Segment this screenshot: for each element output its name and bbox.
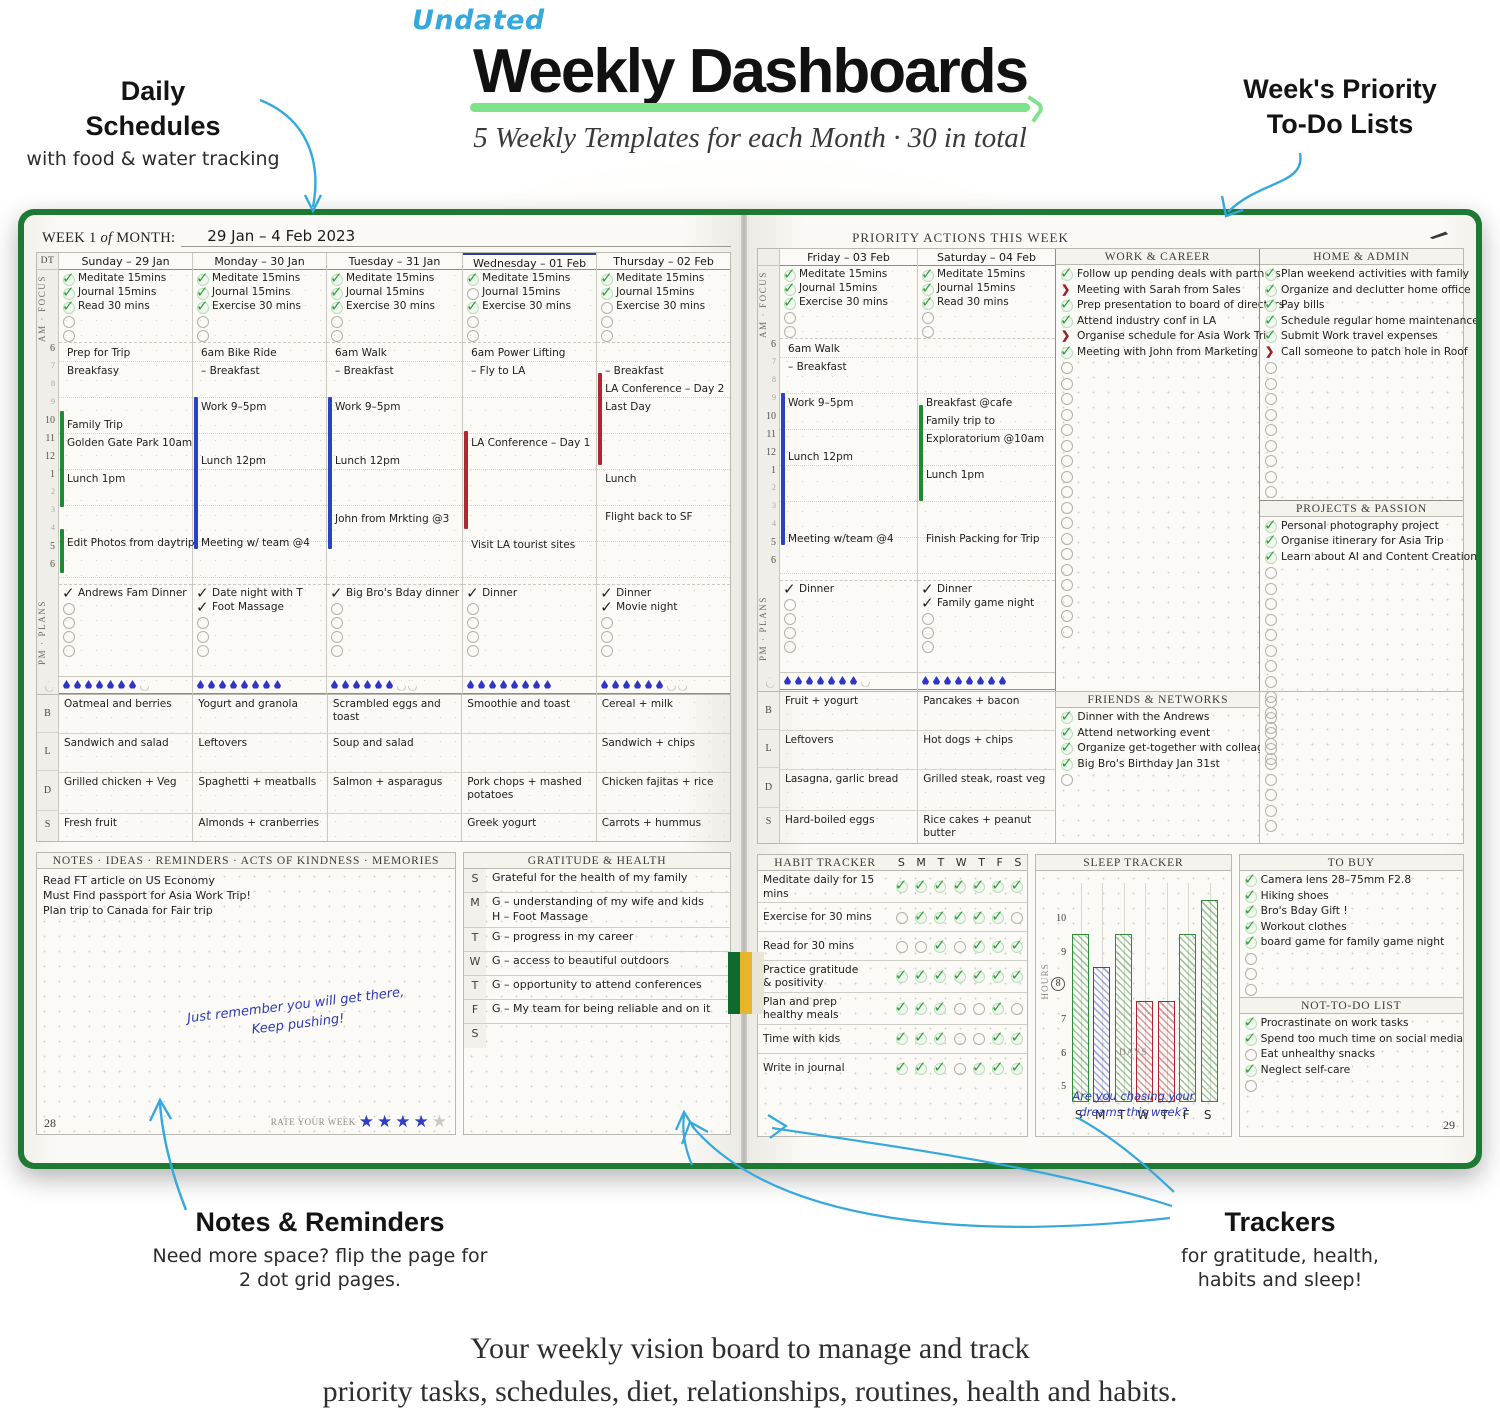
meal-cell[interactable]: Fresh fruit <box>59 814 193 841</box>
home-admin-item[interactable]: Pay bills <box>1260 298 1463 314</box>
water-drop-icon[interactable] <box>783 675 792 687</box>
water-drop-icon[interactable] <box>229 679 238 691</box>
home-admin-item[interactable]: Plan weekend activities with family <box>1260 267 1463 283</box>
checkbox-checked[interactable] <box>1060 268 1072 280</box>
meal-cell[interactable]: Oatmeal and berries <box>59 695 193 733</box>
checkbox-checked[interactable] <box>1060 742 1072 754</box>
am-focus-item[interactable]: Exercise 30 mins <box>330 300 459 314</box>
to-buy-item[interactable]: board game for family game night <box>1240 935 1463 951</box>
sleep-bar[interactable] <box>1072 934 1089 1102</box>
water-drop-icon[interactable] <box>273 679 282 691</box>
checkbox-empty[interactable] <box>921 626 933 638</box>
checkbox-empty[interactable] <box>600 329 612 341</box>
habit-check[interactable] <box>1010 880 1024 894</box>
note-line[interactable]: Plan trip to Canada for Fair trip <box>37 903 455 918</box>
friends-networks-item[interactable] <box>1056 772 1259 788</box>
habit-check[interactable] <box>1010 911 1024 925</box>
water-drop-icon[interactable] <box>600 679 609 691</box>
checkbox-empty[interactable] <box>466 644 478 656</box>
water-drop-icon[interactable] <box>352 679 361 691</box>
schedule-event[interactable]: Work 9–5pm <box>788 397 853 409</box>
am-focus-item[interactable]: Exercise 30 mins <box>196 300 323 314</box>
am-focus-item[interactable]: Meditate 15mins <box>466 272 593 286</box>
checkbox-empty[interactable] <box>1060 625 1072 637</box>
meal-cell[interactable]: Cereal + milk <box>597 695 730 733</box>
checkbox-empty[interactable] <box>1264 757 1276 769</box>
habit-check[interactable] <box>914 1032 928 1046</box>
schedule-event[interactable]: Breakfasy <box>67 365 119 377</box>
water-drop-icon[interactable] <box>932 675 941 687</box>
water-drop-icon[interactable] <box>965 675 974 687</box>
water-drop-icon[interactable] <box>330 679 339 691</box>
water-drop-icon[interactable] <box>794 675 803 687</box>
schedule-event[interactable]: – Breakfast <box>335 365 394 377</box>
water-drop-icon[interactable] <box>655 679 664 691</box>
checkbox-empty[interactable] <box>1060 594 1072 606</box>
checkbox-empty[interactable] <box>1060 392 1072 404</box>
am-focus-item[interactable]: Meditate 15mins <box>921 268 1052 282</box>
water-drop-icon[interactable] <box>805 675 814 687</box>
checkbox-checked[interactable] <box>1060 727 1072 739</box>
to-buy-item[interactable]: Hiking shoes <box>1240 889 1463 905</box>
schedule-event[interactable]: Family Trip <box>67 419 123 431</box>
projects-passion-item[interactable]: Personal photography project <box>1260 519 1463 535</box>
home-admin-item[interactable] <box>1260 469 1463 485</box>
habit-check[interactable] <box>914 1002 928 1016</box>
checkbox-empty[interactable] <box>1060 439 1072 451</box>
checkbox-checked[interactable] <box>196 301 208 313</box>
checkbox-empty[interactable] <box>62 602 74 614</box>
checkbox-empty[interactable] <box>1060 547 1072 559</box>
friends-networks-item[interactable]: Dinner with the Andrews <box>1056 710 1259 726</box>
projects-passion-item[interactable] <box>1260 694 1463 710</box>
not-to-do-item[interactable]: Spend too much time on social media <box>1240 1032 1463 1048</box>
am-focus-item[interactable]: Journal 15mins <box>921 282 1052 296</box>
water-drop-icon[interactable] <box>240 679 249 691</box>
habit-check[interactable] <box>914 1062 928 1076</box>
checkbox-empty[interactable] <box>783 311 795 323</box>
checkbox-empty[interactable] <box>196 315 208 327</box>
pm-plan-item[interactable] <box>196 629 323 643</box>
am-focus-item[interactable]: Exercise 30 mins <box>466 300 593 314</box>
water-drop-icon[interactable] <box>838 675 847 687</box>
pm-plan-item[interactable] <box>62 615 189 629</box>
water-drop-icon[interactable] <box>499 679 508 691</box>
work-career-item[interactable] <box>1056 376 1259 392</box>
am-focus-item[interactable]: Meditate 15mins <box>600 272 727 286</box>
am-focus-item[interactable]: Journal 15mins <box>466 286 593 300</box>
work-career-item[interactable] <box>1056 500 1259 516</box>
water-drop-icon[interactable] <box>921 675 930 687</box>
checkbox-empty[interactable] <box>466 329 478 341</box>
water-drop-icon[interactable] <box>677 679 686 691</box>
checkbox-checked[interactable] <box>196 602 208 614</box>
checkbox-checked[interactable] <box>466 588 478 600</box>
am-focus-item[interactable] <box>783 310 914 324</box>
checkbox-empty[interactable] <box>1244 952 1256 964</box>
am-focus-item[interactable] <box>600 328 727 342</box>
day-header[interactable]: Tuesday – 31 Jan <box>327 253 462 270</box>
pm-plan-item[interactable] <box>330 601 459 615</box>
home-admin-item[interactable]: Schedule regular home maintenance <box>1260 314 1463 330</box>
am-focus-item[interactable]: Journal 15mins <box>196 286 323 300</box>
checkbox-checked[interactable] <box>1244 936 1256 948</box>
checkbox-empty[interactable] <box>1244 983 1256 995</box>
habit-check[interactable] <box>895 940 909 954</box>
checkbox-empty[interactable] <box>1264 819 1276 831</box>
schedule-event[interactable]: – Breakfast <box>788 361 847 373</box>
to-buy-item[interactable]: Workout clothes <box>1240 920 1463 936</box>
checkbox-empty[interactable] <box>921 325 933 337</box>
water-drop-icon[interactable] <box>849 675 858 687</box>
checkbox-empty[interactable] <box>330 616 342 628</box>
pm-plan-item[interactable] <box>921 625 1052 639</box>
checkbox-empty[interactable] <box>1060 408 1072 420</box>
not-to-do-item[interactable] <box>1240 1078 1463 1094</box>
checkbox-checked[interactable] <box>1060 330 1072 342</box>
checkbox-empty[interactable] <box>1264 695 1276 707</box>
habit-check[interactable] <box>953 880 967 894</box>
star-icon[interactable]: ★ <box>432 1113 447 1130</box>
home-admin-item[interactable] <box>1260 453 1463 469</box>
projects-passion-item[interactable] <box>1260 658 1463 674</box>
water-drop-icon[interactable] <box>644 679 653 691</box>
pm-plan-item[interactable]: Family game night <box>921 597 1052 611</box>
pm-plan-item[interactable] <box>466 643 593 657</box>
pm-plan-item[interactable] <box>600 643 727 657</box>
water-drop-icon[interactable] <box>407 679 416 691</box>
checkbox-empty[interactable] <box>1264 804 1276 816</box>
checkbox-empty[interactable] <box>1060 501 1072 513</box>
habit-check[interactable] <box>933 940 947 954</box>
checkbox-checked[interactable] <box>783 584 795 596</box>
gratitude-text[interactable]: G – understanding of my wife and kids H … <box>486 893 730 927</box>
checkbox-empty[interactable] <box>1264 726 1276 738</box>
water-drop-icon[interactable] <box>262 679 271 691</box>
checkbox-checked[interactable] <box>600 287 612 299</box>
projects-passion-item[interactable] <box>1260 643 1463 659</box>
to-buy-item[interactable] <box>1240 966 1463 982</box>
work-career-item[interactable]: Meeting with Sarah from Sales <box>1056 283 1259 299</box>
schedule-event[interactable]: – Breakfast <box>201 365 260 377</box>
projects-passion-item[interactable] <box>1260 612 1463 628</box>
water-drop-icon[interactable] <box>943 675 952 687</box>
gratitude-row[interactable]: WG – access to beautiful outdoors <box>464 952 730 976</box>
checkbox-empty[interactable] <box>1264 392 1276 404</box>
habit-check[interactable] <box>972 880 986 894</box>
water-drop-icon[interactable] <box>396 679 405 691</box>
habit-check[interactable] <box>991 1002 1005 1016</box>
schedule-event[interactable]: Lunch 1pm <box>926 469 984 481</box>
am-focus-item[interactable] <box>466 328 593 342</box>
pm-plan-item[interactable] <box>330 643 459 657</box>
home-admin-item[interactable] <box>1260 422 1463 438</box>
projects-passion-item[interactable] <box>1260 565 1463 581</box>
checkbox-empty[interactable] <box>1264 377 1276 389</box>
checkbox-empty[interactable] <box>1264 659 1276 671</box>
checkbox-empty[interactable] <box>330 315 342 327</box>
to-buy-item[interactable] <box>1240 982 1463 998</box>
pm-plan-item[interactable] <box>196 643 323 657</box>
gratitude-row[interactable]: SGrateful for the health of my family <box>464 869 730 893</box>
checkbox-empty[interactable] <box>1244 967 1256 979</box>
pm-plan-item[interactable] <box>330 615 459 629</box>
schedule-event[interactable]: Work 9–5pm <box>335 401 400 413</box>
am-focus-item[interactable]: Exercise 30 mins <box>600 300 727 314</box>
home-admin-item[interactable]: Call someone to patch hole in Roof <box>1260 345 1463 361</box>
gratitude-row[interactable]: TG – progress in my career <box>464 928 730 952</box>
checkbox-empty[interactable] <box>330 329 342 341</box>
checkbox-empty[interactable] <box>196 329 208 341</box>
checkbox-empty[interactable] <box>1264 423 1276 435</box>
meal-cell[interactable]: Pancakes + bacon <box>918 692 1055 730</box>
checkbox-empty[interactable] <box>196 644 208 656</box>
am-focus-item[interactable] <box>330 314 459 328</box>
checkbox-empty[interactable] <box>1264 485 1276 497</box>
habit-check[interactable] <box>953 911 967 925</box>
am-focus-item[interactable]: Read 30 mins <box>62 300 189 314</box>
schedule-event[interactable]: Lunch 12pm <box>788 451 853 463</box>
week-date-range[interactable]: 29 Jan – 4 Feb 2023 <box>181 227 731 247</box>
day-header[interactable]: Monday – 30 Jan <box>193 253 326 270</box>
work-career-item[interactable] <box>1056 453 1259 469</box>
work-career-item[interactable] <box>1056 531 1259 547</box>
to-buy-item[interactable]: Camera lens 28–75mm F2.8 <box>1240 873 1463 889</box>
checkbox-empty[interactable] <box>1060 773 1072 785</box>
meal-cell[interactable]: Hard-boiled eggs <box>780 811 918 843</box>
day-header[interactable]: Wednesday – 01 Feb <box>463 253 596 270</box>
meal-cell[interactable] <box>462 734 596 772</box>
schedule-event[interactable]: Breakfast @cafe <box>926 397 1012 409</box>
schedule-event[interactable]: Lunch 1pm <box>67 473 125 485</box>
habit-check[interactable] <box>972 1032 986 1046</box>
habit-check[interactable] <box>933 970 947 984</box>
habit-check[interactable] <box>933 1062 947 1076</box>
water-drop-icon[interactable] <box>477 679 486 691</box>
checkbox-empty[interactable] <box>1060 532 1072 544</box>
pm-plan-item[interactable] <box>783 611 914 625</box>
water-drop-icon[interactable] <box>666 679 675 691</box>
work-career-item[interactable]: Meeting with John from Marketing <box>1056 345 1259 361</box>
star-icon[interactable]: ★ <box>395 1113 410 1130</box>
am-focus-item[interactable]: Meditate 15mins <box>196 272 323 286</box>
am-focus-item[interactable]: Read 30 mins <box>921 296 1052 310</box>
habit-check[interactable] <box>895 1002 909 1016</box>
schedule-event[interactable]: 6am Power Lifting <box>471 347 565 359</box>
work-career-item[interactable] <box>1056 608 1259 624</box>
habit-check[interactable] <box>972 1062 986 1076</box>
checkbox-empty[interactable] <box>1060 423 1072 435</box>
habit-check[interactable] <box>972 1002 986 1016</box>
am-focus-item[interactable]: Meditate 15mins <box>62 272 189 286</box>
habit-check[interactable] <box>991 970 1005 984</box>
habit-check[interactable] <box>914 911 928 925</box>
checkbox-checked[interactable] <box>1264 535 1276 547</box>
schedule-event[interactable]: Meeting w/team @4 <box>788 533 894 545</box>
water-drop-icon[interactable] <box>488 679 497 691</box>
schedule-event[interactable]: Meeting w/ team @4 <box>201 537 310 549</box>
meal-cell[interactable]: Sandwich + chips <box>597 734 730 772</box>
schedule-event[interactable]: Family trip to <box>926 415 995 427</box>
checkbox-empty[interactable] <box>600 644 612 656</box>
gratitude-row[interactable]: MG – understanding of my wife and kids H… <box>464 893 730 928</box>
checkbox-empty[interactable] <box>600 315 612 327</box>
meal-cell[interactable]: Pork chops + mashed potatoes <box>462 773 596 813</box>
checkbox-empty[interactable] <box>1264 628 1276 640</box>
checkbox-checked[interactable] <box>1244 890 1256 902</box>
pm-plan-item[interactable]: Dinner <box>466 587 593 601</box>
checkbox-checked[interactable] <box>466 301 478 313</box>
schedule-event[interactable]: Last Day <box>605 401 651 413</box>
schedule-event[interactable]: John from Mrkting @3 <box>335 513 449 525</box>
pm-plan-item[interactable] <box>196 615 323 629</box>
habit-check[interactable] <box>895 970 909 984</box>
checkbox-empty[interactable] <box>62 644 74 656</box>
checkbox-empty[interactable] <box>600 301 612 313</box>
checkbox-empty[interactable] <box>1264 644 1276 656</box>
meal-cell[interactable]: Lasagna, garlic bread <box>780 770 918 810</box>
star-icon[interactable]: ★ <box>377 1113 392 1130</box>
star-icon[interactable]: ★ <box>414 1113 429 1130</box>
am-focus-item[interactable] <box>62 314 189 328</box>
checkbox-empty[interactable] <box>1264 470 1276 482</box>
checkbox-checked[interactable] <box>1244 1064 1256 1076</box>
habit-check[interactable] <box>1010 970 1024 984</box>
habit-check[interactable] <box>933 1032 947 1046</box>
day-header[interactable]: Thursday – 02 Feb <box>597 253 730 270</box>
checkbox-checked[interactable] <box>62 301 74 313</box>
checkbox-checked[interactable] <box>1060 758 1072 770</box>
pm-plan-item[interactable]: Dinner <box>783 583 914 597</box>
not-to-do-item[interactable]: Eat unhealthy snacks <box>1240 1047 1463 1063</box>
work-career-item[interactable]: Organise schedule for Asia Work Trip <box>1056 329 1259 345</box>
checkbox-checked[interactable] <box>1060 299 1072 311</box>
work-career-item[interactable]: Prep presentation to board of directors <box>1056 298 1259 314</box>
checkbox-checked[interactable] <box>1264 520 1276 532</box>
checkbox-empty[interactable] <box>1264 566 1276 578</box>
checkbox-empty[interactable] <box>1060 377 1072 389</box>
pm-plan-item[interactable]: Dinner <box>600 587 727 601</box>
sleep-bar[interactable] <box>1201 900 1218 1102</box>
gratitude-text[interactable]: G – access to beautiful outdoors <box>486 952 730 975</box>
pm-plan-item[interactable] <box>62 601 189 615</box>
checkbox-checked[interactable] <box>1264 551 1276 563</box>
checkbox-empty[interactable] <box>1060 485 1072 497</box>
meal-cell[interactable] <box>328 814 462 841</box>
meal-cell[interactable]: Yogurt and granola <box>193 695 327 733</box>
checkbox-empty[interactable] <box>1264 454 1276 466</box>
habit-check[interactable] <box>895 911 909 925</box>
checkbox-empty[interactable] <box>783 325 795 337</box>
habit-check[interactable] <box>972 940 986 954</box>
pm-plan-item[interactable] <box>921 639 1052 653</box>
checkbox-checked[interactable] <box>921 297 933 309</box>
meal-cell[interactable]: Carrots + hummus <box>597 814 730 841</box>
checkbox-empty[interactable] <box>600 630 612 642</box>
friends-networks-item[interactable]: Organize get-together with colleagues <box>1056 741 1259 757</box>
meal-cell[interactable]: Leftovers <box>193 734 327 772</box>
work-career-item[interactable] <box>1056 577 1259 593</box>
water-drop-icon[interactable] <box>117 679 126 691</box>
work-career-item[interactable]: Attend industry conf in LA <box>1056 314 1259 330</box>
water-drop-icon[interactable] <box>84 679 93 691</box>
checkbox-empty[interactable] <box>196 630 208 642</box>
habit-check[interactable] <box>914 940 928 954</box>
checkbox-empty[interactable] <box>783 626 795 638</box>
checkbox-empty[interactable] <box>921 311 933 323</box>
pm-plan-item[interactable] <box>466 615 593 629</box>
schedule-event[interactable]: – Fly to LA <box>471 365 525 377</box>
projects-passion-item[interactable] <box>1260 710 1463 726</box>
habit-check[interactable] <box>972 911 986 925</box>
pm-plan-item[interactable] <box>62 629 189 643</box>
habit-check[interactable] <box>1010 940 1024 954</box>
habit-check[interactable] <box>1010 1002 1024 1016</box>
pm-plan-item[interactable]: Foot Massage <box>196 601 323 615</box>
checkbox-empty[interactable] <box>1244 1079 1256 1091</box>
checkbox-empty[interactable] <box>1060 454 1072 466</box>
am-focus-item[interactable]: Exercise 30 mins <box>783 296 914 310</box>
schedule-event[interactable]: 6am Walk <box>335 347 387 359</box>
water-drop-icon[interactable] <box>106 679 115 691</box>
habit-check[interactable] <box>991 1062 1005 1076</box>
pm-plan-item[interactable]: Movie night <box>600 601 727 615</box>
home-admin-item[interactable] <box>1260 391 1463 407</box>
work-career-item[interactable] <box>1056 407 1259 423</box>
projects-passion-item[interactable] <box>1260 627 1463 643</box>
friends-networks-item[interactable]: Attend networking event <box>1056 726 1259 742</box>
checkbox-empty[interactable] <box>1264 711 1276 723</box>
meal-cell[interactable]: Almonds + cranberries <box>193 814 327 841</box>
checkbox-empty[interactable] <box>1264 582 1276 594</box>
gratitude-text[interactable]: G – opportunity to attend conferences <box>486 976 730 999</box>
schedule-event[interactable]: 6am Bike Ride <box>201 347 277 359</box>
checkbox-empty[interactable] <box>1060 578 1072 590</box>
schedule-event[interactable]: – Breakfast <box>605 365 664 377</box>
checkbox-empty[interactable] <box>1264 788 1276 800</box>
checkbox-empty[interactable] <box>783 598 795 610</box>
to-buy-item[interactable]: Bro's Bday Gift ! <box>1240 904 1463 920</box>
projects-passion-item[interactable] <box>1260 787 1463 803</box>
water-drop-icon[interactable] <box>987 675 996 687</box>
water-drop-icon[interactable] <box>827 675 836 687</box>
checkbox-empty[interactable] <box>330 602 342 614</box>
am-focus-item[interactable]: Meditate 15mins <box>330 272 459 286</box>
checkbox-checked[interactable] <box>466 273 478 285</box>
checkbox-checked[interactable] <box>1244 874 1256 886</box>
checkbox-checked[interactable] <box>1060 711 1072 723</box>
checkbox-checked[interactable] <box>921 598 933 610</box>
schedule-event[interactable]: Golden Gate Park 10am <box>67 437 192 449</box>
water-drop-icon[interactable] <box>633 679 642 691</box>
water-drop-icon[interactable] <box>543 679 552 691</box>
checkbox-empty[interactable] <box>1264 613 1276 625</box>
meal-cell[interactable]: Smoothie and toast <box>462 695 596 733</box>
water-drop-icon[interactable] <box>998 675 1007 687</box>
meal-cell[interactable]: Grilled chicken + Veg <box>59 773 193 813</box>
water-drop-icon[interactable] <box>976 675 985 687</box>
water-drop-icon[interactable] <box>95 679 104 691</box>
to-buy-item[interactable] <box>1240 951 1463 967</box>
checkbox-empty[interactable] <box>783 640 795 652</box>
work-career-item[interactable] <box>1056 438 1259 454</box>
water-drop-icon[interactable] <box>816 675 825 687</box>
am-focus-item[interactable] <box>62 328 189 342</box>
meal-cell[interactable]: Fruit + yogurt <box>780 692 918 730</box>
checkbox-checked[interactable] <box>1244 921 1256 933</box>
checkbox-checked[interactable] <box>1060 346 1072 358</box>
checkbox-empty[interactable] <box>1264 597 1276 609</box>
